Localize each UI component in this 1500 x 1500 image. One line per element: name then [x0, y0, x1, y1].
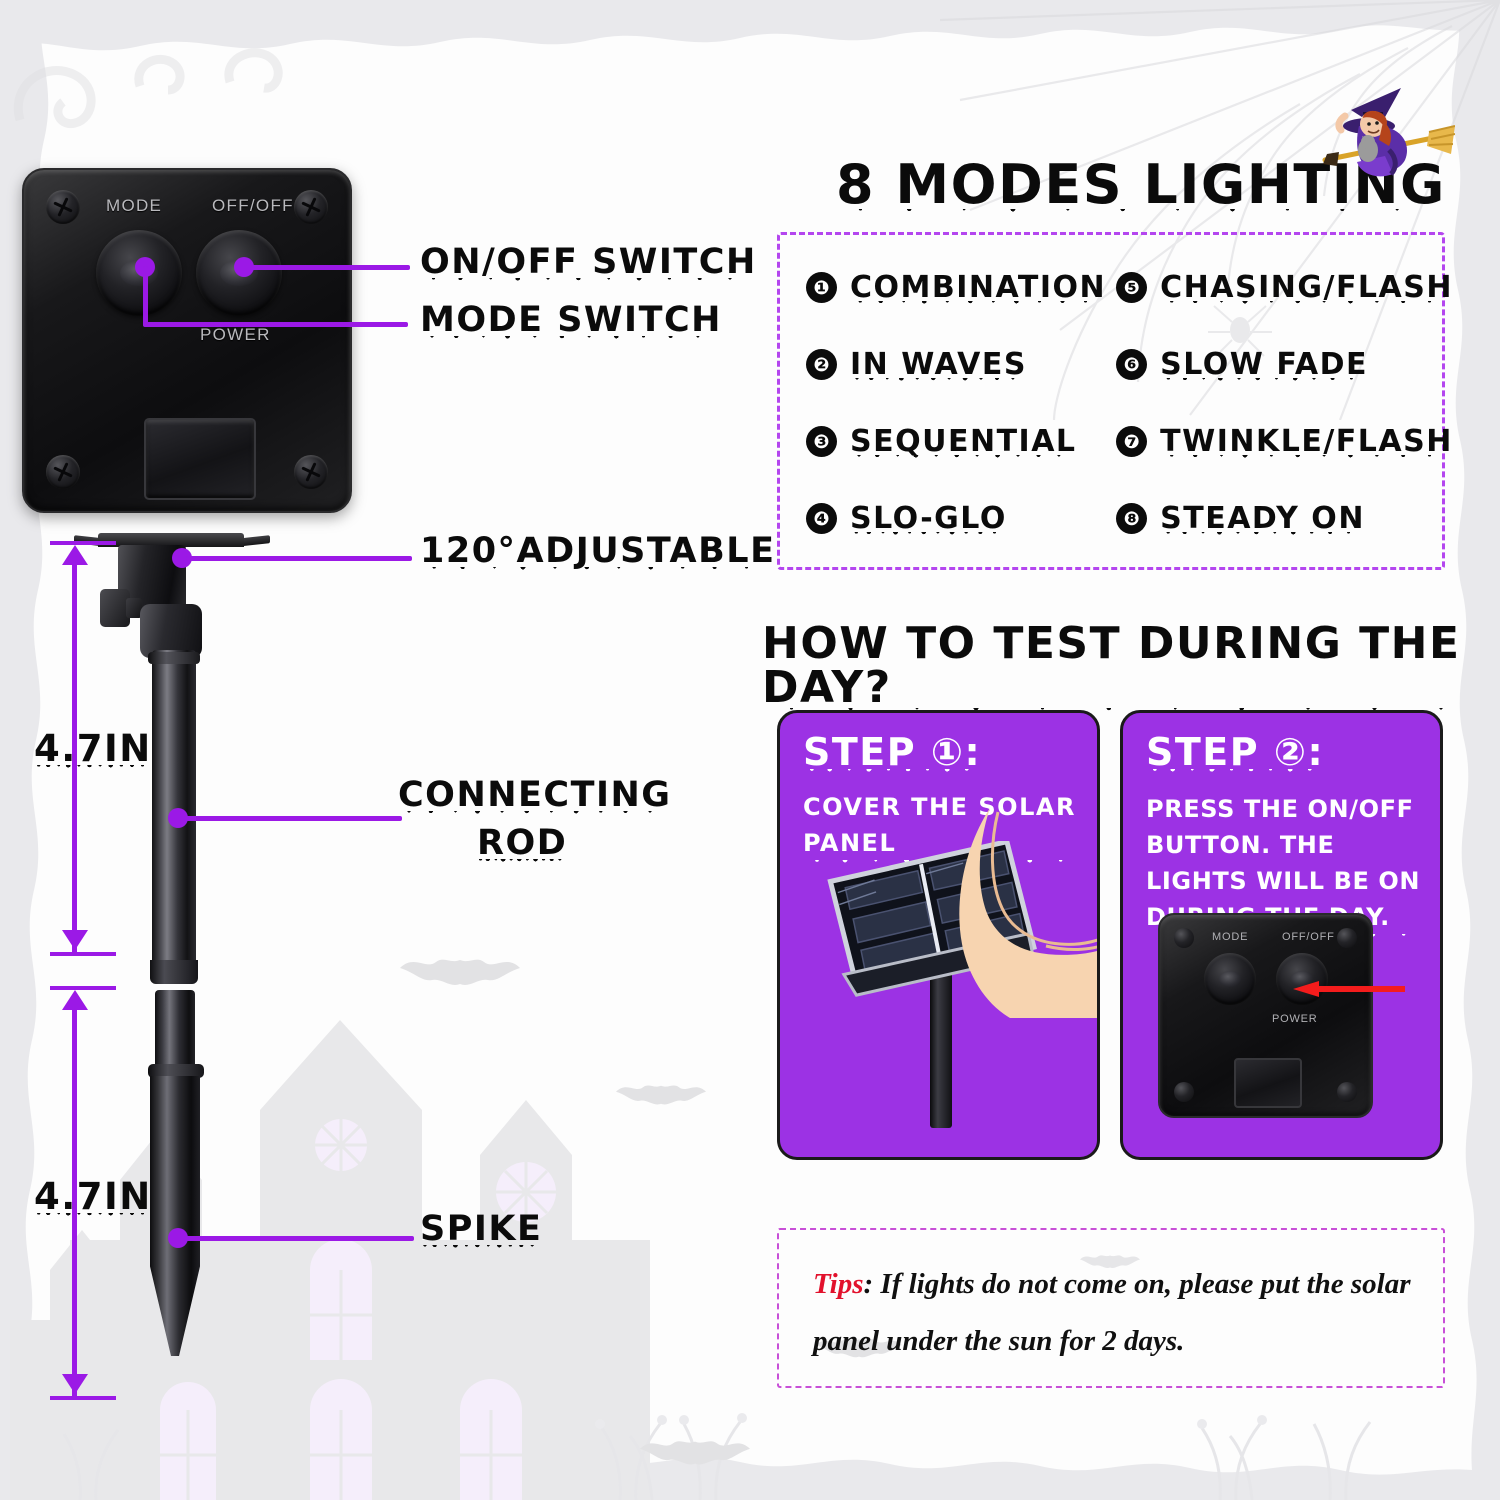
mode-item-8: ❽ STEADY ON: [1116, 503, 1453, 534]
mode-item-1: ❶ COMBINATION: [806, 272, 1106, 303]
modes-list-box: ❶ COMBINATION ❺ CHASING/FLASH ❷ IN WAVES…: [777, 232, 1445, 570]
callout-label-adjustable: 120°ADJUSTABLE: [420, 534, 775, 569]
mode-label: TWINKLE/FLASH: [1160, 427, 1453, 457]
tips-separator: :: [863, 1268, 880, 1300]
modes-grid: ❶ COMBINATION ❺ CHASING/FLASH ❷ IN WAVES…: [780, 235, 1442, 567]
grass-silhouette-icon: [0, 1380, 1500, 1500]
screw-icon: [46, 190, 80, 224]
callout-leader-line: [143, 322, 408, 327]
step-2-title: STEP ②:: [1146, 733, 1324, 771]
callout-leader-line: [184, 816, 402, 821]
step-2-controller-panel: MODE OFF/OFF POWER: [1158, 913, 1373, 1118]
arrow-up-icon: [62, 990, 88, 1010]
solar-controller-panel: MODE OFF/OFF POWER: [22, 168, 352, 513]
battery-compartment: [144, 418, 256, 500]
mode-item-7: ❼ TWINKLE/FLASH: [1116, 426, 1453, 457]
screw-icon: [294, 455, 328, 489]
mode-number-icon: ❸: [806, 426, 837, 457]
product-infographic: MODE OFF/OFF POWER 4.7IN: [0, 0, 1500, 1500]
tips-keyword: Tips: [813, 1268, 863, 1300]
tips-text: Tips: If lights do not come on, please p…: [813, 1256, 1417, 1369]
thumbscrew-icon: [100, 589, 130, 627]
bat-icon: [400, 950, 520, 1008]
hand-icon: [950, 808, 1100, 1018]
screw-icon: [1174, 1082, 1194, 1102]
mode-number-icon: ❻: [1116, 349, 1147, 380]
dimension-cap-bottom: [50, 952, 116, 956]
callout-label-connecting-rod-line2: ROD: [477, 826, 567, 861]
spike-collar: [148, 1064, 204, 1078]
spike-shank: [155, 990, 195, 1068]
step-1-title: STEP ①:: [803, 733, 981, 771]
callout-label-connecting-rod-line1: CONNECTING: [398, 778, 672, 813]
tips-body: If lights do not come on, please put the…: [813, 1268, 1411, 1357]
mini-panel-label-on-off: OFF/OFF: [1282, 931, 1335, 943]
callout-leader-line: [186, 556, 412, 561]
haunted-house-silhouette-icon: [10, 940, 770, 1500]
screw-icon: [294, 190, 328, 224]
torn-edge-bottom-icon: [0, 1430, 1500, 1500]
mini-battery-compartment: [1234, 1058, 1302, 1108]
step-card-2: STEP ②: PRESS THE ON/OFF BUTTON. THE LIG…: [1120, 710, 1443, 1160]
callout-label-mode-switch: MODE SWITCH: [420, 303, 722, 338]
torn-edge-top-icon: [0, 0, 1500, 70]
callout-leader-vertical: [143, 266, 148, 326]
mode-item-5: ❺ CHASING/FLASH: [1116, 272, 1453, 303]
ground-spike: [150, 1076, 200, 1356]
panel-label-power: POWER: [200, 325, 271, 345]
mini-panel-label-mode: MODE: [1212, 931, 1248, 943]
mode-number-icon: ❶: [806, 272, 837, 303]
screw-icon: [1337, 1082, 1357, 1102]
mode-label: COMBINATION: [850, 273, 1106, 303]
arrow-down-icon: [62, 1374, 88, 1394]
witch-on-broom-icon: [1305, 82, 1455, 187]
mode-number-icon: ❽: [1116, 503, 1147, 534]
callout-label-on-off-switch: ON/OFF SWITCH: [420, 245, 757, 280]
callout-leader-line: [184, 1236, 414, 1241]
mode-label: SLOW FADE: [1160, 350, 1368, 380]
mode-item-2: ❷ IN WAVES: [806, 349, 1106, 380]
dimension-label-rod: 4.7IN: [34, 730, 152, 767]
arrow-down-icon: [62, 930, 88, 950]
mode-label: SLO-GLO: [850, 504, 1007, 534]
mode-number-icon: ❹: [806, 503, 837, 534]
tips-box: Tips: If lights do not come on, please p…: [777, 1228, 1445, 1388]
mini-on-off-button[interactable]: [1276, 953, 1328, 1005]
mode-number-icon: ❺: [1116, 272, 1147, 303]
mode-label: IN WAVES: [850, 350, 1027, 380]
bat-icon: [616, 1078, 706, 1122]
callout-label-spike: SPIKE: [420, 1212, 542, 1247]
step-card-1: STEP ①: COVER THE SOLAR PANEL: [777, 710, 1100, 1160]
mini-mode-button[interactable]: [1204, 953, 1256, 1005]
bat-icon: [640, 1432, 750, 1486]
dimension-cap-bottom: [50, 1396, 116, 1400]
dimension-label-spike: 4.7IN: [34, 1178, 152, 1215]
callout-leader-line: [250, 265, 410, 270]
panel-label-mode: MODE: [106, 196, 162, 216]
mini-panel-label-power: POWER: [1272, 1013, 1318, 1025]
mode-label: SEQUENTIAL: [850, 427, 1077, 457]
arrow-up-icon: [62, 545, 88, 565]
mode-label: CHASING/FLASH: [1160, 273, 1453, 303]
screw-icon: [46, 455, 80, 489]
mode-item-3: ❸ SEQUENTIAL: [806, 426, 1106, 457]
rod-collar: [148, 652, 200, 664]
mode-item-4: ❹ SLO-GLO: [806, 503, 1106, 534]
rod-end-cap: [150, 960, 198, 984]
screw-icon: [1174, 928, 1194, 948]
mode-number-icon: ❷: [806, 349, 837, 380]
test-section-title: HOW TO TEST DURING THE DAY?: [762, 622, 1500, 710]
mode-label: STEADY ON: [1160, 504, 1365, 534]
panel-label-on-off: OFF/OFF: [212, 196, 294, 216]
screw-icon: [1337, 928, 1357, 948]
red-arrow-icon: [1293, 981, 1405, 997]
mode-number-icon: ❼: [1116, 426, 1147, 457]
mode-item-6: ❻ SLOW FADE: [1116, 349, 1453, 380]
